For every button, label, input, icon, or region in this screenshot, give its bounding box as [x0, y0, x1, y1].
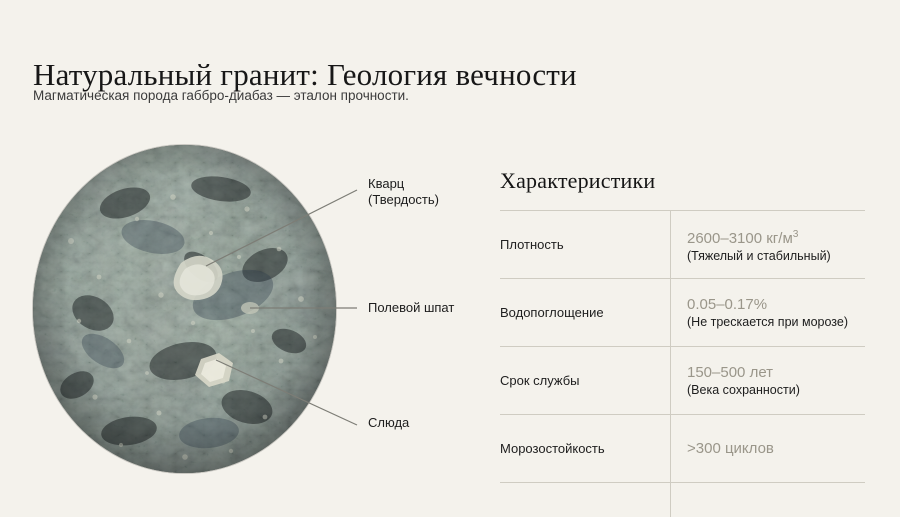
table-row: Срок службы 150–500 лет (Века сохранност… [500, 347, 865, 415]
callout-mica: Слюда [368, 415, 409, 431]
granite-texture [33, 145, 336, 473]
specifications-table: Плотность 2600–3100 кг/м3 (Тяжелый и ста… [500, 210, 865, 517]
callout-quartz-sub: (Твердость) [368, 192, 439, 208]
spec-value-cell: 150–500 лет (Века сохранности) [671, 347, 866, 415]
spec-tail-value [671, 483, 866, 517]
page-subtitle: Магматическая порода габбро-диабаз — эта… [33, 88, 409, 103]
spec-key: Водопоглощение [500, 279, 671, 347]
table-row: Плотность 2600–3100 кг/м3 (Тяжелый и ста… [500, 211, 865, 279]
callout-quartz: Кварц (Твердость) [368, 176, 439, 208]
granite-sample-disc [33, 145, 336, 473]
callout-quartz-label: Кварц [368, 176, 404, 191]
spec-key: Морозостойкость [500, 415, 671, 483]
table-tail [500, 483, 865, 517]
spec-note: (Не трескается при морозе) [687, 314, 865, 331]
specifications-panel: Характеристики Плотность 2600–3100 кг/м3… [500, 168, 865, 517]
spec-key: Срок службы [500, 347, 671, 415]
granite-texture-svg [33, 145, 336, 473]
spec-value: >300 циклов [687, 439, 865, 458]
infographic-page: Натуральный гранит: Геология вечности Ма… [0, 0, 900, 502]
specifications-title: Характеристики [500, 168, 865, 194]
spec-key: Плотность [500, 211, 671, 279]
callout-feldspar-label: Полевой шпат [368, 300, 454, 315]
spec-value: 0.05–0.17% [687, 295, 865, 314]
spec-value-cell: 0.05–0.17% (Не трескается при морозе) [671, 279, 866, 347]
table-row: Водопоглощение 0.05–0.17% (Не трескается… [500, 279, 865, 347]
spec-note: (Тяжелый и стабильный) [687, 248, 865, 265]
spec-tail-key [500, 483, 671, 517]
spec-value-cell: 2600–3100 кг/м3 (Тяжелый и стабильный) [671, 211, 866, 279]
table-row: Морозостойкость >300 циклов [500, 415, 865, 483]
spec-value-cell: >300 циклов [671, 415, 866, 483]
callout-feldspar: Полевой шпат [368, 300, 454, 316]
spec-value: 2600–3100 кг/м3 [687, 225, 865, 248]
callout-mica-label: Слюда [368, 415, 409, 430]
spec-note: (Века сохранности) [687, 382, 865, 399]
spec-value: 150–500 лет [687, 363, 865, 382]
